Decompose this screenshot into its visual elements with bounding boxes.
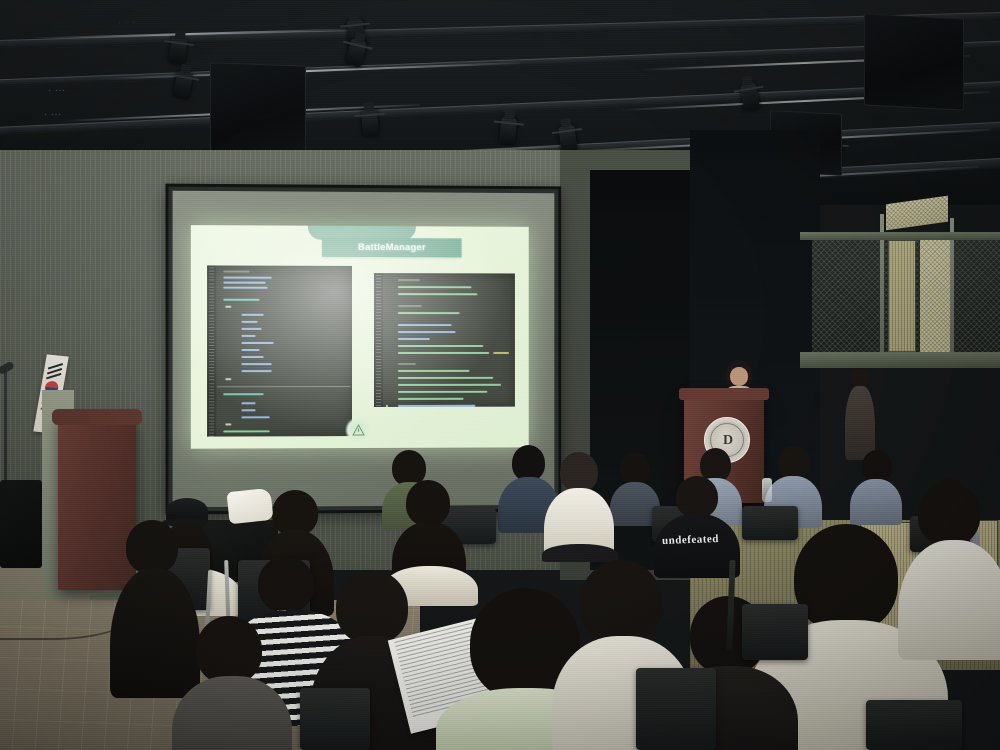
stage-light [361,109,379,136]
presentation-slide: BattleManager [191,225,529,449]
head [580,560,662,644]
hanging-speaker [210,62,306,161]
line-number-gutter [207,265,216,436]
head [196,616,262,684]
slide-title-bar: BattleManager [322,238,462,258]
stage-light [173,71,193,99]
slide-title: BattleManager [358,242,426,253]
stage-light [558,125,577,153]
head [560,452,598,492]
water-bottle [762,478,772,502]
torso-hem [542,544,618,562]
head [918,482,980,546]
head [126,520,178,574]
presenter-face [730,367,748,386]
head [778,446,810,480]
mezzanine-handrail [800,232,1000,240]
stage-light [168,37,187,65]
stage-light [740,83,760,111]
right-code-pane [374,273,515,407]
ceiling-light-strip [100,62,520,80]
projection-screen: BattleManager [169,187,559,512]
hanging-speaker [864,13,964,110]
shirt-text: undefeated [662,533,719,547]
head [794,524,898,632]
head [512,445,545,481]
ceiling-marking: ▪ ▪▪▪ [44,112,62,118]
left-code-pane [207,265,352,436]
triangle-logo-icon [345,417,371,443]
chair [300,688,370,750]
head [676,476,718,518]
chair [742,604,808,660]
chair [866,700,962,750]
truss-beam [0,11,1000,49]
stage-monitor-speaker [0,480,42,568]
ceiling-marking: · · · [118,20,136,26]
chair [742,506,798,540]
lecture-hall-photograph: · · · ▪ ▪▪▪ ▪ ▪▪▪ ▪ ▪▪ ▪ ▪▪ [0,0,1000,750]
plastic-bag [226,488,273,524]
secondary-podium [58,415,136,590]
torso [850,479,902,525]
head [336,570,408,644]
mesh-panel [920,238,950,356]
head [406,480,450,526]
mezzanine-floor-edge [800,352,1000,368]
attendee-body [845,386,875,460]
head [258,556,314,612]
chair [636,668,716,750]
stage-light [345,38,367,67]
head [620,452,650,485]
hair-long [110,568,200,698]
stage-light [499,117,518,145]
line-number-gutter [374,273,383,407]
wall-panel [888,240,916,352]
ceiling-marking: ▪ ▪▪▪ [48,88,66,94]
emblem-glyph: D [720,432,736,450]
